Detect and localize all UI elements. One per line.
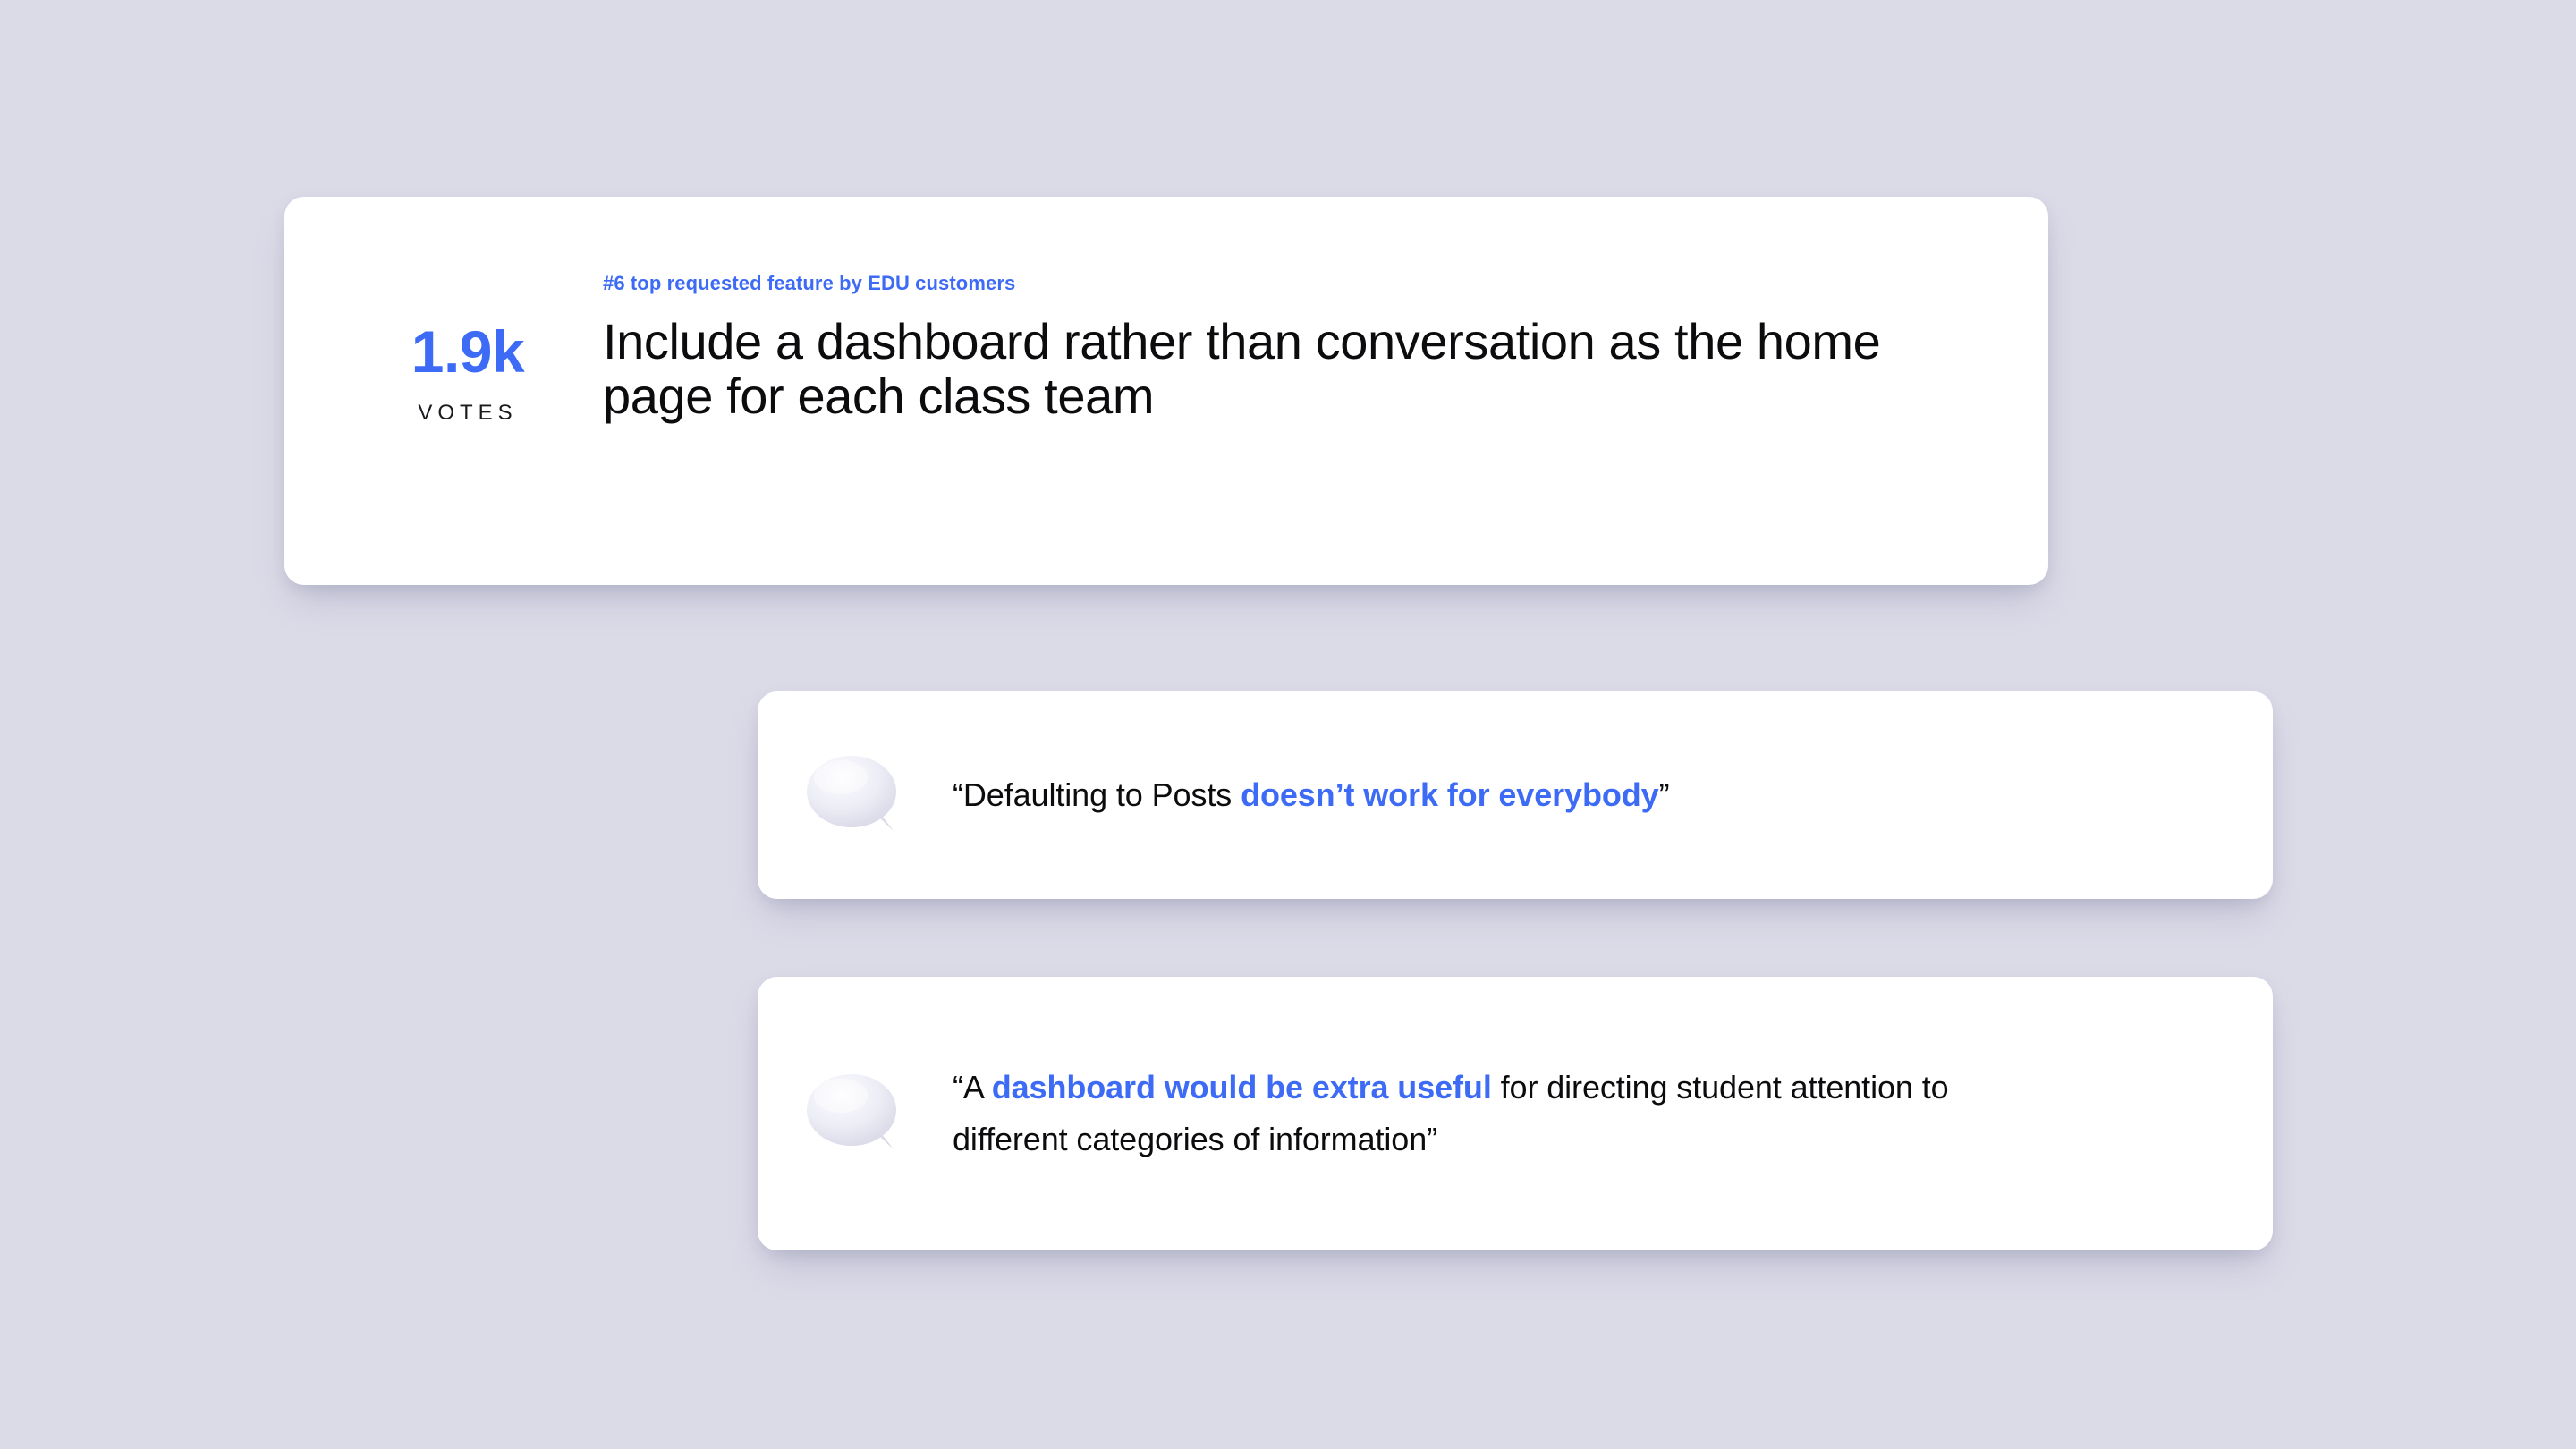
speech-bubble-wrap — [758, 1067, 953, 1160]
quote-close-mark: ” — [1427, 1121, 1437, 1157]
quote-card: “Defaulting to Posts doesn’t work for ev… — [758, 691, 2273, 899]
quote-close-mark: ” — [1659, 776, 1670, 813]
speech-bubble-icon — [805, 1067, 905, 1160]
votes-block: 1.9k VOTES — [347, 322, 589, 424]
feature-request-card: 1.9k VOTES #6 top requested feature by E… — [284, 197, 2048, 585]
quote-lead: Defaulting to Posts — [963, 776, 1241, 813]
votes-label: VOTES — [347, 402, 589, 424]
feature-heading: Include a dashboard rather than conversa… — [603, 315, 1909, 423]
quote-card: “A dashboard would be extra useful for d… — [758, 977, 2273, 1250]
quote-text: “Defaulting to Posts doesn’t work for ev… — [953, 769, 1723, 821]
quote-open-mark: “ — [953, 776, 963, 813]
slide-canvas: 1.9k VOTES #6 top requested feature by E… — [0, 0, 2576, 1449]
votes-count: 1.9k — [347, 322, 589, 381]
quote-open-mark: “ — [953, 1069, 963, 1106]
speech-bubble-wrap — [758, 749, 953, 842]
quote-highlight: dashboard would be extra useful — [992, 1069, 1492, 1106]
quote-lead: A — [963, 1069, 992, 1106]
feature-body: #6 top requested feature by EDU customer… — [603, 272, 2004, 423]
speech-bubble-icon — [805, 749, 905, 842]
quote-text: “A dashboard would be extra useful for d… — [953, 1062, 2062, 1166]
feature-eyebrow: #6 top requested feature by EDU customer… — [603, 272, 2004, 295]
quote-highlight: doesn’t work for everybody — [1241, 776, 1659, 813]
